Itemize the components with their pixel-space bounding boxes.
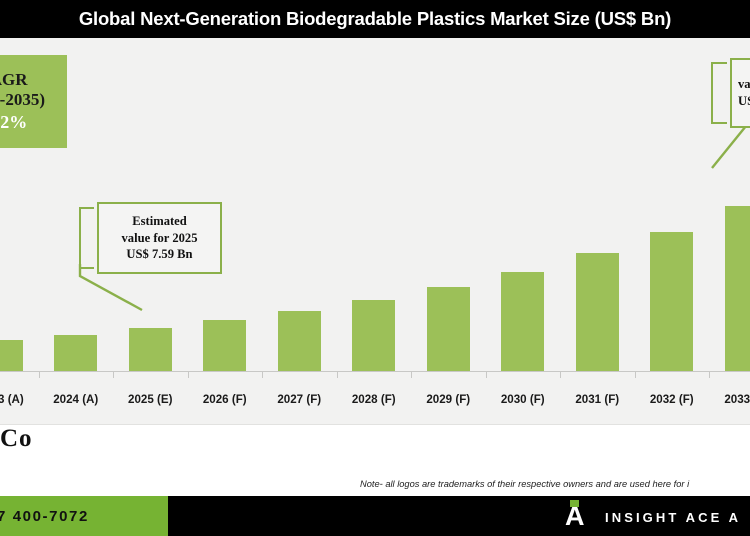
infographic-page: Global Next-Generation Biodegradable Pla… xyxy=(0,0,750,536)
bar-2028F xyxy=(352,300,395,371)
title-bar: Global Next-Generation Biodegradable Pla… xyxy=(0,0,750,38)
callout-2025-line3: US$ 7.59 Bn xyxy=(126,246,192,263)
bar-2032F xyxy=(650,232,693,371)
x-label-2024A: 2024 (A) xyxy=(39,393,114,406)
callout-2025-box: Estimated value for 2025 US$ 7.59 Bn xyxy=(97,202,222,274)
cagr-period: (2025-2035) xyxy=(0,90,45,111)
footer-brand: A INSIGHT ACE A xyxy=(565,503,741,531)
callout-2035-bracket xyxy=(711,62,727,124)
page-title: Global Next-Generation Biodegradable Pla… xyxy=(79,8,671,30)
x-label-2023A: 2023 (A) xyxy=(0,393,39,406)
bar-2029F xyxy=(427,287,470,371)
bar-2027F xyxy=(278,311,321,371)
logo-corbion: Co xyxy=(0,425,750,453)
x-tick xyxy=(486,371,487,378)
x-label-2030F: 2030 (F) xyxy=(486,393,561,406)
cagr-label: CAGR xyxy=(0,70,28,91)
footer-brand-name: INSIGHT ACE A xyxy=(605,510,741,525)
x-tick xyxy=(709,371,710,378)
trademark-note: Note- all logos are trademarks of their … xyxy=(360,479,689,489)
x-label-2027F: 2027 (F) xyxy=(262,393,337,406)
footer-phone[interactable]: 07 400-7072 xyxy=(0,508,89,525)
x-label-2026F: 2026 (F) xyxy=(188,393,263,406)
cagr-callout-box: CAGR (2025-2035) 18.2% xyxy=(0,55,67,148)
callout-2025-line2: value for 2025 xyxy=(121,230,197,247)
x-tick xyxy=(113,371,114,378)
bar-2023A xyxy=(0,340,23,371)
x-tick xyxy=(39,371,40,378)
x-label-2031F: 2031 (F) xyxy=(560,393,635,406)
cagr-value: 18.2% xyxy=(0,111,27,134)
footer-phone-box[interactable]: 07 400-7072 xyxy=(0,496,168,536)
bar-2030F xyxy=(501,272,544,371)
x-tick xyxy=(560,371,561,378)
x-label-2029F: 2029 (F) xyxy=(411,393,486,406)
callout-2025-line1: Estimated xyxy=(132,213,187,230)
insightace-logo-icon: A xyxy=(565,503,591,531)
x-tick xyxy=(411,371,412,378)
insightace-logo-tick xyxy=(570,500,579,507)
callout-2025-bracket xyxy=(79,207,94,269)
bar-2031F xyxy=(576,253,619,371)
bar-2026F xyxy=(203,320,246,371)
x-label-2033F: 2033 (F) xyxy=(709,393,750,406)
x-label-2032F: 2032 (F) xyxy=(635,393,710,406)
x-tick xyxy=(188,371,189,378)
callout-2035-line2: US$ 40.1 Bn xyxy=(738,93,750,110)
x-label-2028F: 2028 (F) xyxy=(337,393,412,406)
x-tick xyxy=(337,371,338,378)
bar-2025E xyxy=(129,328,172,371)
callout-2035-box: value for 2035 US$ 40.1 Bn xyxy=(730,58,750,128)
x-tick xyxy=(262,371,263,378)
x-label-2025E: 2025 (E) xyxy=(113,393,188,406)
bar-2033F xyxy=(725,206,750,371)
callout-2035-line1: value for 2035 xyxy=(738,76,750,93)
bar-2024A xyxy=(54,335,97,371)
x-axis-labels: 2023 (A)2024 (A)2025 (E)2026 (F)2027 (F)… xyxy=(0,384,750,406)
x-tick xyxy=(635,371,636,378)
